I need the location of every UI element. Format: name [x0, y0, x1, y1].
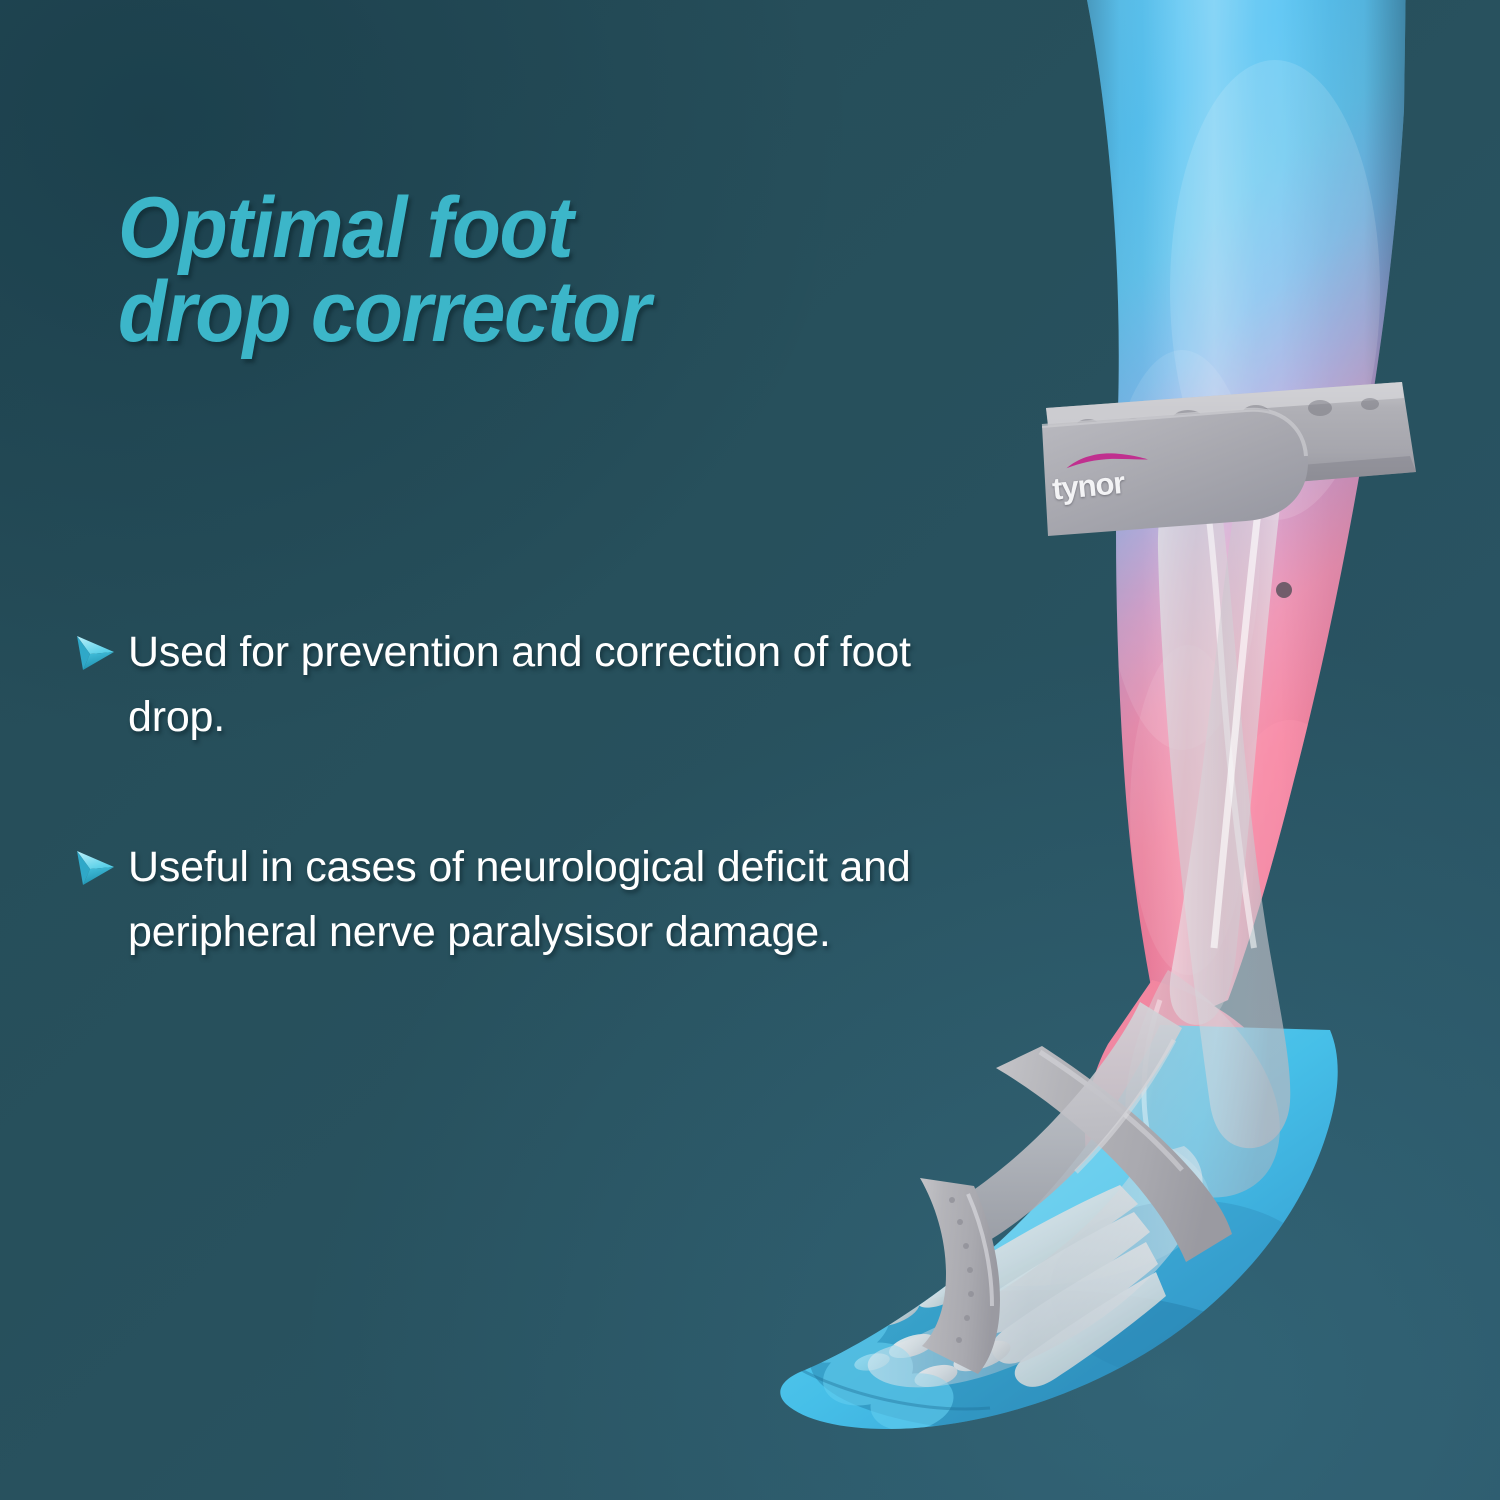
list-item: Useful in cases of neurological deficit … — [74, 835, 954, 964]
list-item-label: Used for prevention and correction of fo… — [128, 620, 954, 749]
arrow-bullet-icon — [74, 620, 128, 674]
arrow-bullet-icon — [74, 835, 128, 889]
calf-strap — [1042, 382, 1416, 536]
marketing-copy: Optimal foot drop corrector — [0, 0, 960, 1500]
splint-rivet — [1276, 582, 1292, 598]
poster-canvas: tynor Optimal foot drop corrector — [0, 0, 1500, 1500]
list-item: Used for prevention and correction of fo… — [74, 620, 954, 749]
page-title: Optimal foot drop corrector — [118, 186, 881, 355]
feature-list: Used for prevention and correction of fo… — [74, 620, 954, 1050]
list-item-label: Useful in cases of neurological deficit … — [128, 835, 954, 964]
